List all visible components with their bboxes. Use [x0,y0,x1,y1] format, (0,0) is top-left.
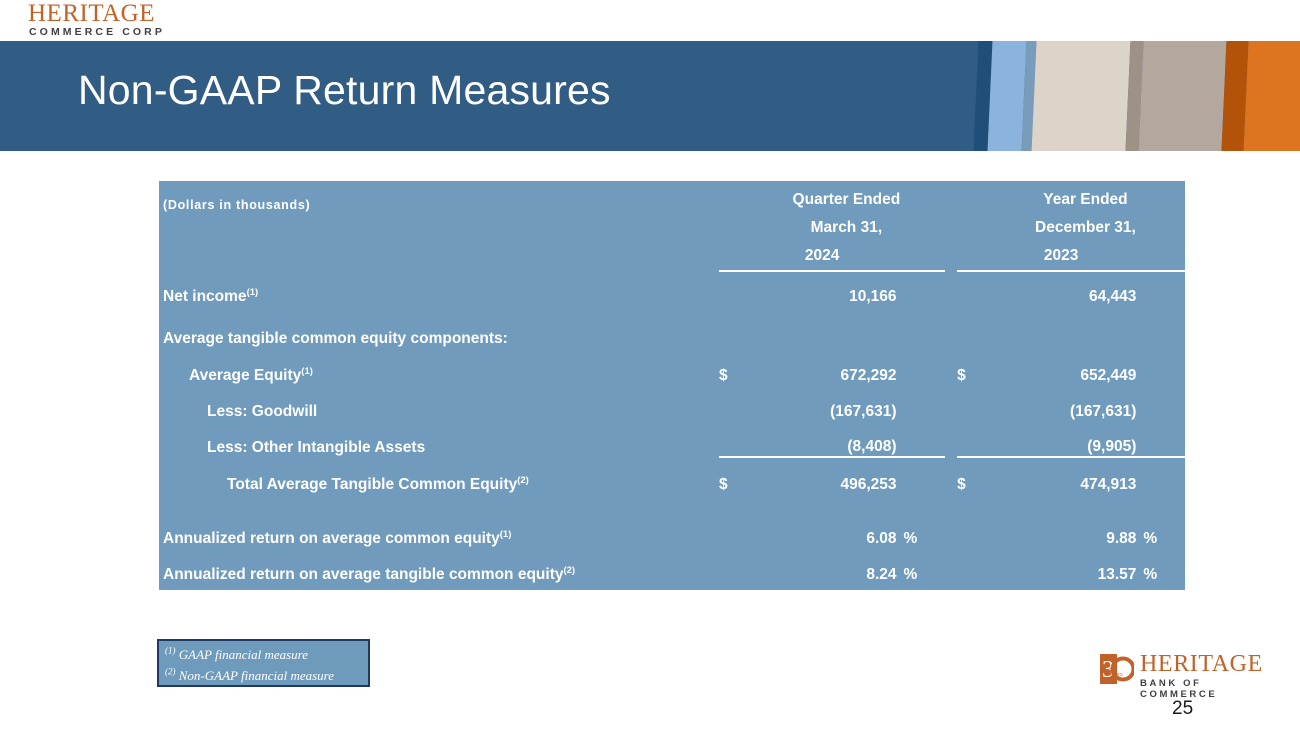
cell-gap [945,548,957,584]
cell-percent-quarter [897,421,946,457]
cell-percent-year [1136,271,1185,306]
cell-percent-year [1136,306,1185,348]
cell-gap [945,421,957,457]
cell-currency-year [957,421,986,457]
table-header-row-2: March 31, December 31, [159,214,1185,242]
cell-gap [945,306,957,348]
cell-currency-quarter [719,421,748,457]
anniversary-30-years-mark: 3 YEARS [1100,654,1134,684]
non-gaap-return-measures-table: (Dollars in thousands) Quarter Ended Yea… [159,181,1185,590]
cell-gap [945,457,957,494]
footnote-marker-1: (1) [165,646,176,656]
top-logo-bar: HERITAGE COMMERCE CORP [0,0,1300,41]
cell-currency-year: $ [957,457,986,494]
cell-percent-year [1136,385,1185,421]
cell-value-year: 13.57 [986,548,1137,584]
cell-percent-year: % [1136,548,1185,584]
cell-value-quarter: 8.24 [748,548,897,584]
cell-gap [945,271,957,306]
cell-currency-quarter [719,494,748,548]
cell-currency-quarter: $ [719,457,748,494]
cell-value-year: 64,443 [986,271,1137,306]
row-label: Average tangible common equity component… [159,306,719,348]
cell-value-year: 474,913 [986,457,1137,494]
row-label-footnote: (1) [247,287,259,298]
stripe-light-blue [987,41,1027,151]
footnote-text-2: Non-GAAP financial measure [179,668,334,683]
row-label: Less: Other Intangible Assets [159,421,719,457]
footnote-legend-box: (1) GAAP financial measure (2) Non-GAAP … [157,639,370,687]
heritage-commerce-corp-logo: HERITAGE COMMERCE CORP [28,1,165,38]
row-label-text: Average tangible common equity component… [163,330,508,347]
cell-currency-quarter [719,385,748,421]
stripe-orange [1243,41,1300,151]
row-label: Annualized return on average tangible co… [159,548,719,584]
title-banner: Non-GAAP Return Measures [0,41,1300,151]
table-row: Average Equity(1)$672,292$652,449 [159,348,1185,385]
cell-percent-quarter [897,385,946,421]
cell-gap [945,494,957,548]
cell-value-year: 652,449 [986,348,1137,385]
row-label: Less: Goodwill [159,385,719,421]
cell-currency-year [957,548,986,584]
col-header-year-line2: December 31, [986,214,1185,242]
stripe-warm-gray [1138,41,1227,151]
footnote-line-1: (1) GAAP financial measure [165,644,362,665]
cell-value-quarter [748,306,897,348]
cell-value-quarter: 10,166 [748,271,897,306]
cell-value-quarter: 6.08 [748,494,897,548]
footnote-marker-2: (2) [165,667,176,677]
row-label: Average Equity(1) [159,348,719,385]
units-note: (Dollars in thousands) [163,198,310,212]
cell-value-quarter: 672,292 [748,348,897,385]
cell-value-year: 9.88 [986,494,1137,548]
cell-currency-quarter [719,548,748,584]
corp-logo-wordmark: HERITAGE [28,1,165,26]
cell-currency-quarter [719,306,748,348]
row-label-footnote: (2) [517,475,529,486]
footnote-text-1: GAAP financial measure [179,647,308,662]
cell-currency-year: $ [957,348,986,385]
footnote-line-2: (2) Non-GAAP financial measure [165,665,362,686]
cell-value-year: (167,631) [986,385,1137,421]
cell-gap [945,348,957,385]
row-label: Annualized return on average common equi… [159,494,719,548]
cell-value-year: (9,905) [986,421,1137,457]
row-label: Net income(1) [159,271,719,306]
cell-value-year [986,306,1137,348]
table-header-row-3: 2024 2023 [159,242,1185,271]
cell-currency-quarter: $ [719,348,748,385]
cell-currency-year [957,494,986,548]
cell-percent-quarter: % [897,548,946,584]
svg-text:YEARS: YEARS [1107,672,1123,677]
row-label-text: Annualized return on average common equi… [163,530,500,547]
table-row: Total Average Tangible Common Equity(2)$… [159,457,1185,494]
bank-logo-wordmark: HERITAGE [1140,652,1263,676]
table-row: Annualized return on average common equi… [159,494,1185,548]
row-label: Total Average Tangible Common Equity(2) [159,457,719,494]
table-row: Average tangible common equity component… [159,306,1185,348]
col-header-year-line3: 2023 [986,242,1137,271]
col-header-quarter-line3: 2024 [748,242,897,271]
cell-percent-quarter [897,457,946,494]
cell-gap [945,385,957,421]
col-header-year-line1: Year Ended [986,181,1185,214]
page-number: 25 [1172,698,1193,720]
table-row: Less: Other Intangible Assets(8,408)(9,9… [159,421,1185,457]
cell-percent-quarter [897,306,946,348]
row-label-footnote: (2) [563,565,575,576]
cell-percent-year [1136,457,1185,494]
stripe-cream [1031,41,1131,151]
cell-percent-year [1136,348,1185,385]
cell-percent-year: % [1136,494,1185,548]
cell-currency-year [957,271,986,306]
row-label-footnote: (1) [500,529,512,540]
cell-percent-quarter [897,348,946,385]
cell-currency-year [957,385,986,421]
row-label-text: Less: Goodwill [207,403,317,420]
row-label-text: Net income [163,288,247,305]
row-label-text: Less: Other Intangible Assets [207,439,425,456]
cell-percent-quarter [897,271,946,306]
row-label-text: Annualized return on average tangible co… [163,566,563,583]
col-header-quarter-line1: Quarter Ended [748,181,945,214]
bank-logo-text: HERITAGE BANK OF COMMERCE [1140,652,1263,700]
table-row: Annualized return on average tangible co… [159,548,1185,584]
cell-currency-year [957,306,986,348]
cell-percent-quarter: % [897,494,946,548]
cell-value-quarter: (167,631) [748,385,897,421]
cell-value-quarter: 496,253 [748,457,897,494]
row-label-text: Total Average Tangible Common Equity [227,476,517,493]
bank-logo-subtitle: BANK OF COMMERCE [1140,678,1263,700]
cell-currency-quarter [719,271,748,306]
cell-value-quarter: (8,408) [748,421,897,457]
row-label-footnote: (1) [301,366,313,377]
table-row: Net income(1)10,16664,443 [159,271,1185,306]
table-header-row-1: (Dollars in thousands) Quarter Ended Yea… [159,181,1185,214]
table-row: Less: Goodwill(167,631)(167,631) [159,385,1185,421]
page-title: Non-GAAP Return Measures [78,67,611,114]
row-label-text: Average Equity [189,367,301,384]
corp-logo-subtitle: COMMERCE CORP [29,27,165,38]
cell-percent-year [1136,421,1185,457]
financial-table: (Dollars in thousands) Quarter Ended Yea… [159,181,1185,584]
col-header-quarter-line2: March 31, [748,214,945,242]
